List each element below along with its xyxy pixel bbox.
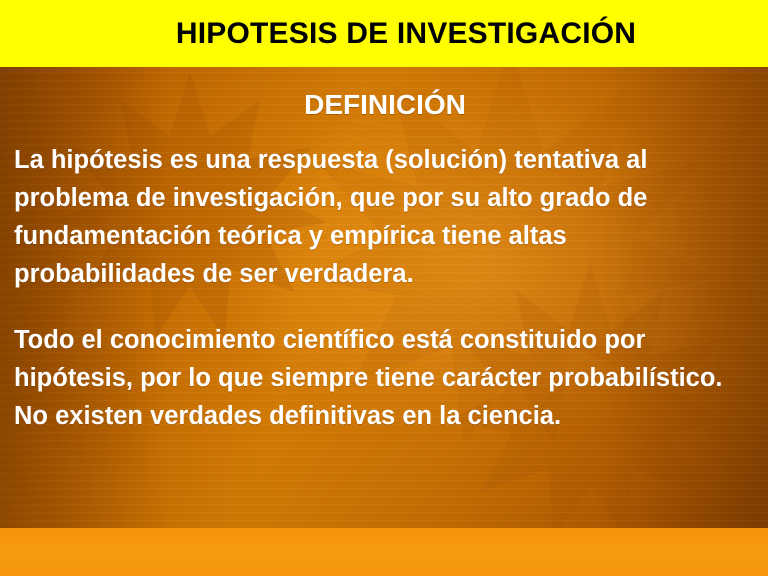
slide: HIPOTESIS DE INVESTIGACIÓN DEFINICIÓN La… [0,0,768,576]
slide-content: DEFINICIÓN La hipótesis es una respuesta… [0,67,768,528]
definition-paragraph-1: La hipótesis es una respuesta (solución)… [14,141,742,293]
section-heading: DEFINICIÓN [28,89,742,121]
slide-bottom-bar [0,528,768,576]
definition-paragraph-2: Todo el conocimiento científico está con… [14,321,742,435]
slide-title-banner: HIPOTESIS DE INVESTIGACIÓN [0,0,768,67]
slide-title: HIPOTESIS DE INVESTIGACIÓN [176,17,636,51]
